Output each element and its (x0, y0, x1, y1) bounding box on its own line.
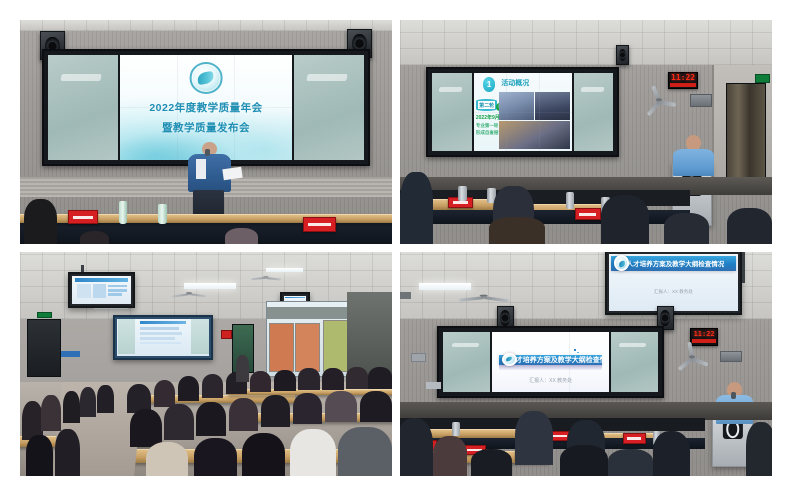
name-card (68, 210, 98, 223)
photo-bottom-right[interactable]: 人才培养方案及教学大纲检查情况 汇报人：XX 教务处 人才培养方案及教学大纲检查… (400, 252, 772, 476)
ceiling (400, 20, 772, 65)
screen-side-panel-right (574, 73, 614, 151)
main-screen: 人才培养方案及教学大纲检查情况 汇报人：XX 教务处 (492, 332, 608, 392)
ceiling (20, 20, 392, 31)
led-clock: 11:22 (668, 72, 699, 90)
audience-person (489, 217, 545, 244)
slide-photo-tile (499, 92, 534, 120)
photo-collage: 2022年度教学质量年会 暨教学质量发布会 (20, 20, 772, 477)
microphone-icon (731, 392, 736, 399)
audience-person (727, 208, 772, 244)
audience-person (653, 431, 690, 476)
audience-person (400, 172, 433, 244)
slide-title-line-1: 2022年度教学质量年会 (120, 100, 293, 115)
audience-person (601, 195, 649, 244)
main-screen: 1 活动概况 第二轮 D 2022年9月-12月 专业第一轮自查 形成自查报告 (474, 73, 572, 151)
led-clock-time: 11:22 (694, 331, 715, 338)
audience-person (24, 199, 57, 244)
doorway[interactable] (726, 83, 767, 182)
name-card (303, 217, 336, 232)
slide-accent-dot (574, 349, 576, 351)
screen-side-panel-right (611, 332, 658, 392)
audience-person (80, 231, 110, 244)
exit-sign-icon (37, 312, 52, 318)
wall-control-box (690, 94, 712, 107)
projection-screen[interactable]: 1 活动概况 第二轮 D 2022年9月-12月 专业第一轮自查 形成自查报告 (426, 67, 619, 157)
slide-photo-tile (535, 92, 569, 120)
audience-block-left (20, 377, 117, 476)
audience-person (400, 418, 433, 476)
water-bottle (158, 204, 167, 224)
speaker-shirt (196, 159, 206, 179)
audience-person (664, 213, 709, 244)
slide-heading: 活动概况 (501, 78, 529, 88)
projection-screen[interactable] (113, 315, 213, 360)
led-video-wall[interactable]: 人才培养方案及教学大纲检查情况 汇报人：XX 教务处 (437, 326, 664, 398)
ceiling-fan-icon (173, 288, 206, 299)
wall-control-box (720, 351, 742, 362)
name-card (575, 208, 601, 220)
audience-person (433, 436, 466, 476)
ceiling-fan-icon (251, 272, 281, 281)
water-bottle (119, 201, 127, 223)
photo-top-right[interactable]: 1 活动概况 第二轮 D 2022年9月-12月 专业第一轮自查 形成自查报告 … (400, 20, 772, 244)
slide-title-line-2: 暨教学质量发布会 (120, 120, 293, 135)
led-clock: 11:22 (690, 328, 718, 346)
slide-subtitle: 汇报人：XX 教务处 (492, 377, 608, 384)
ceiling-speaker-icon (616, 45, 629, 65)
wall-fan-icon (642, 89, 675, 109)
audience-block-right (124, 364, 392, 476)
microphone-icon (205, 149, 211, 157)
ceiling-fan-icon (460, 288, 508, 304)
slide-banner-shadow (499, 365, 601, 370)
wall-plaque (61, 351, 80, 358)
fire-extinguisher-box (221, 330, 232, 339)
name-card (623, 433, 645, 443)
wall-switch (426, 382, 441, 389)
thermos-flask (566, 192, 575, 209)
university-emblem-icon (502, 353, 517, 366)
standing-person (236, 355, 249, 382)
photo-bottom-left[interactable] (20, 252, 392, 476)
screen-side-panel-left (48, 55, 117, 159)
screen-side-panel-left (432, 73, 472, 151)
audience-person (746, 422, 772, 476)
university-emblem-icon (190, 62, 223, 93)
led-clock-time: 11:22 (671, 74, 695, 82)
photo-top-left[interactable]: 2022年度教学质量年会 暨教学质量发布会 (20, 20, 392, 244)
audience-person (560, 445, 608, 476)
ceiling-mounted-monitor[interactable] (68, 272, 135, 308)
screen-side-panel-left (443, 332, 490, 392)
monitor-bracket (742, 252, 745, 283)
presenter-shirt (673, 149, 714, 176)
audience-person (608, 449, 653, 476)
thermos-flask (452, 422, 459, 435)
slide-accent-dot (577, 352, 579, 353)
audience-person (471, 449, 512, 476)
monitor-subtitle: 汇报人：XX 教务处 (609, 289, 739, 295)
wall-fan-icon (675, 348, 708, 366)
wall-outlet (411, 353, 426, 362)
exit-sign-icon (755, 74, 770, 83)
screen-side-panel-right (294, 55, 363, 159)
slide-photo-tile (499, 121, 569, 149)
audience-person (515, 411, 552, 465)
ceiling-mount (400, 292, 411, 299)
slide-sub-badge: 第二轮 (476, 99, 497, 111)
thermos-flask (458, 186, 467, 202)
entrance-door[interactable] (27, 319, 60, 377)
monitor-banner-text: 人才培养方案及教学大纲检查情况 (611, 256, 735, 271)
slide-section-badge: 1 (483, 77, 496, 92)
speaker-papers (222, 167, 242, 181)
audience-person (225, 228, 258, 244)
